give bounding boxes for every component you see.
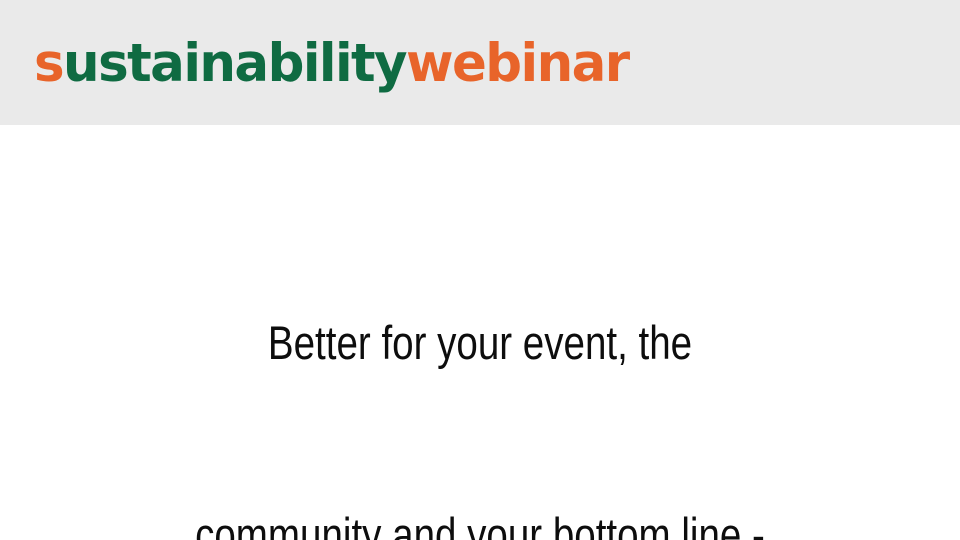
logo-word-webinar: webinar <box>406 37 629 90</box>
slide-title: Better for your event, the community and… <box>86 183 873 540</box>
logo-word-sustainability: ustainability <box>63 37 406 90</box>
title-line-2: community and your bottom line - <box>86 503 873 540</box>
slide-header-band: sustainabilitywebinar <box>0 0 960 125</box>
logo-lead-letter: s <box>34 37 63 90</box>
sustainability-webinar-logo: sustainabilitywebinar <box>34 30 629 96</box>
title-line-1: Better for your event, the <box>86 311 873 375</box>
presentation-slide: sustainabilitywebinar Better for your ev… <box>0 0 960 540</box>
